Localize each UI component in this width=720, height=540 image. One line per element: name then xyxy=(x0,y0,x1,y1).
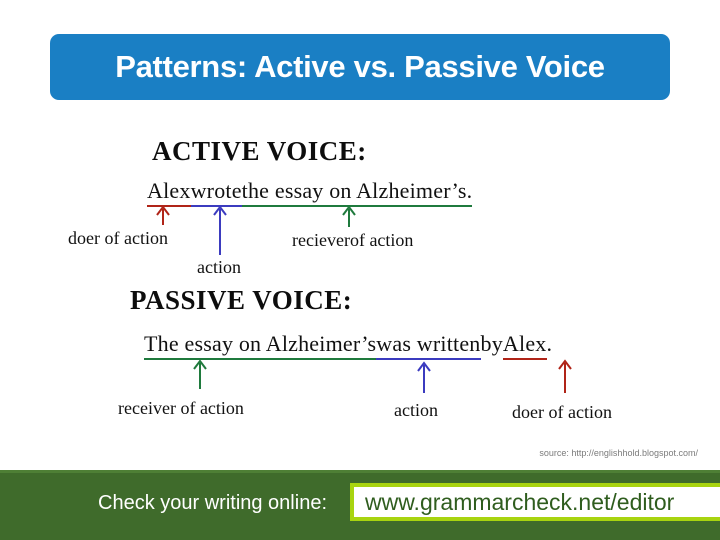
passive-agent-segment: Alex xyxy=(503,331,547,360)
active-object-segment: the essay on Alzheimer’s. xyxy=(242,178,473,207)
passive-action-label: action xyxy=(394,400,438,421)
passive-verb-segment: was written xyxy=(376,331,480,360)
footer-label: Check your writing online: xyxy=(98,492,327,515)
passive-receiver-label: receiver of action xyxy=(118,398,244,419)
active-doer-label: doer of action xyxy=(68,228,168,249)
passive-by-word: by xyxy=(481,331,503,360)
passive-action-arrow xyxy=(410,360,438,394)
slide-canvas: Patterns: Active vs. Passive Voice ACTIV… xyxy=(0,0,720,540)
passive-doer-label: doer of action xyxy=(512,402,612,423)
passive-voice-heading: PASSIVE VOICE: xyxy=(130,285,352,316)
active-verb-segment: wrote xyxy=(191,178,242,207)
passive-subject-segment: The essay on Alzheimer’s xyxy=(144,331,376,360)
passive-doer-arrow xyxy=(551,358,579,394)
active-receiver-arrow xyxy=(335,204,363,228)
footer-top-rule xyxy=(0,470,720,473)
page-title: Patterns: Active vs. Passive Voice xyxy=(115,49,605,85)
active-action-arrow xyxy=(206,204,234,256)
passive-receiver-arrow xyxy=(186,358,214,390)
active-subject-segment: Alex xyxy=(147,178,191,207)
active-action-label: action xyxy=(197,257,241,278)
title-banner: Patterns: Active vs. Passive Voice xyxy=(50,34,670,100)
active-voice-sentence: Alex wrote the essay on Alzheimer’s. xyxy=(147,178,472,207)
footer-url-box[interactable]: www.grammarcheck.net/editor xyxy=(350,483,720,521)
source-credit: source: http://englishhold.blogspot.com/ xyxy=(539,448,698,458)
active-voice-heading: ACTIVE VOICE: xyxy=(152,136,367,167)
active-receiver-label: recieverof action xyxy=(292,230,413,251)
passive-period: . xyxy=(547,331,553,360)
passive-voice-sentence: The essay on Alzheimer’s was written by … xyxy=(144,331,552,360)
footer-url-text[interactable]: www.grammarcheck.net/editor xyxy=(354,489,674,516)
active-doer-arrow xyxy=(149,204,177,226)
